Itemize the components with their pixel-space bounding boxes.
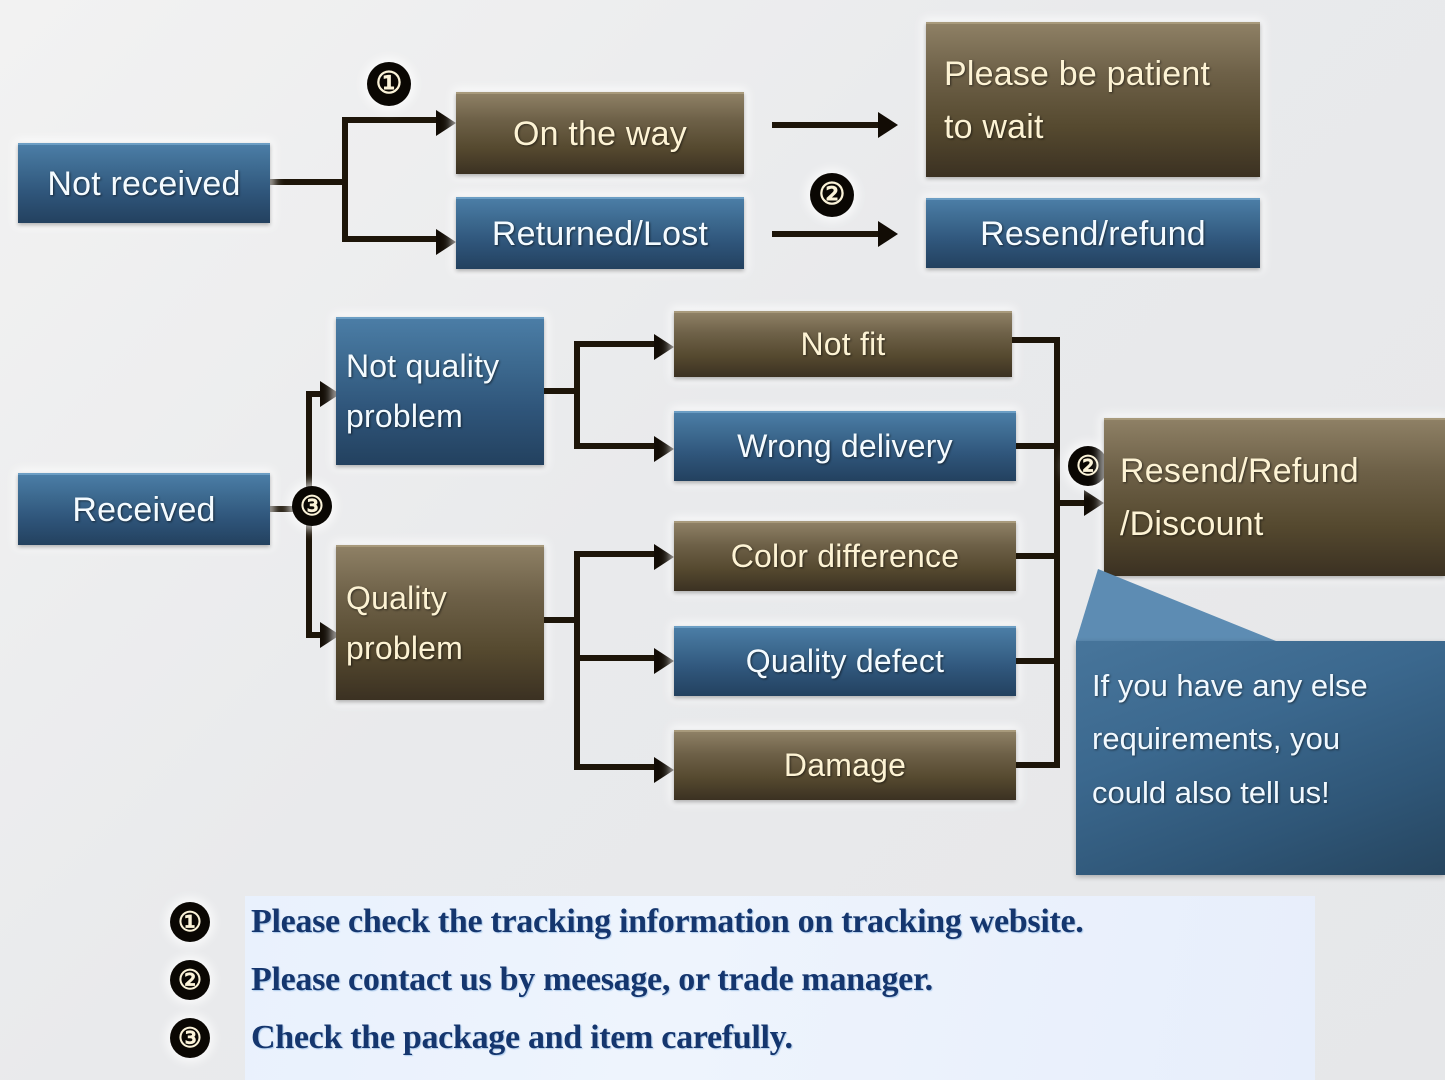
node-not-quality-problem-line1: Not quality <box>346 342 534 392</box>
arrowhead-not-fit <box>654 334 674 360</box>
connector-q-to-damage <box>574 764 660 770</box>
connector-q-to-color-difference <box>574 551 660 557</box>
node-quality-problem[interactable]: Quality problem <box>336 545 544 700</box>
arrowhead-please-be-patient <box>878 112 898 138</box>
arrowhead-on-the-way <box>436 110 456 136</box>
step-marker-1-top: ① <box>367 62 411 106</box>
connector-to-on-the-way <box>342 117 442 123</box>
bubble-line-2: requirements, you <box>1092 721 1340 756</box>
node-not-fit[interactable]: Not fit <box>674 311 1012 377</box>
bubble-line-1: If you have any else <box>1092 668 1368 703</box>
speech-bubble-extra-requirements[interactable]: If you have any else requirements, you c… <box>1076 641 1445 875</box>
step-marker-3: ③ <box>292 486 332 526</box>
node-on-the-way-label: On the way <box>470 108 730 161</box>
node-color-difference-label: Color difference <box>688 532 1002 582</box>
legend-text-1: Please check the tracking information on… <box>251 903 1084 941</box>
node-please-be-patient-line1: Please be patient <box>944 48 1242 101</box>
node-received[interactable]: Received <box>18 473 270 545</box>
legend-text-2: Please contact us by meesage, or trade m… <box>251 961 933 999</box>
connector-bus-not-fit <box>1012 337 1060 343</box>
legend-marker-3: ③ <box>170 1018 210 1058</box>
legend-marker-2: ② <box>170 960 210 1000</box>
node-quality-defect-label: Quality defect <box>688 637 1002 687</box>
arrowhead-damage <box>654 757 674 783</box>
node-resend-refund[interactable]: Resend/refund <box>926 198 1260 268</box>
node-resend-refund-discount[interactable]: Resend/Refund /Discount <box>1104 418 1445 576</box>
node-damage[interactable]: Damage <box>674 730 1016 800</box>
arrowhead-quality-defect <box>654 648 674 674</box>
bubble-line-3: could also tell us! <box>1092 775 1330 810</box>
node-returned-lost-label: Returned/Lost <box>470 208 730 261</box>
node-wrong-delivery[interactable]: Wrong delivery <box>674 411 1016 481</box>
connector-not-received-trunk <box>270 179 348 185</box>
connector-bus-vertical <box>1054 337 1060 768</box>
speech-bubble-tail-icon <box>1076 569 1445 649</box>
node-not-quality-problem[interactable]: Not quality problem <box>336 317 544 465</box>
arrowhead-resend-refund <box>878 221 898 247</box>
arrowhead-returned-lost <box>436 229 456 255</box>
node-resend-refund-label: Resend/refund <box>940 208 1246 261</box>
node-resend-refund-discount-line2: /Discount <box>1120 498 1429 551</box>
node-received-label: Received <box>32 484 256 537</box>
connector-q-to-quality-defect <box>574 655 660 661</box>
node-not-received[interactable]: Not received <box>18 143 270 223</box>
arrowhead-color-difference <box>654 544 674 570</box>
node-damage-label: Damage <box>688 741 1002 791</box>
node-quality-problem-line1: Quality <box>346 574 534 624</box>
connector-to-resend-refund <box>772 231 884 237</box>
node-not-fit-label: Not fit <box>688 320 998 370</box>
node-quality-problem-line2: problem <box>346 624 534 674</box>
node-quality-defect[interactable]: Quality defect <box>674 626 1016 696</box>
connector-nq-to-not-fit <box>574 341 660 347</box>
connector-nq-split <box>574 341 580 449</box>
step-marker-2-right: ② <box>1068 446 1108 486</box>
node-on-the-way[interactable]: On the way <box>456 92 744 174</box>
node-not-received-label: Not received <box>32 158 256 211</box>
node-color-difference[interactable]: Color difference <box>674 521 1016 591</box>
node-please-be-patient[interactable]: Please be patient to wait <box>926 22 1260 177</box>
legend-text-3: Check the package and item carefully. <box>251 1019 793 1057</box>
arrowhead-resend-discount <box>1084 490 1104 516</box>
node-resend-refund-discount-line1: Resend/Refund <box>1120 445 1429 498</box>
node-not-quality-problem-line2: problem <box>346 392 534 442</box>
node-please-be-patient-line2: to wait <box>944 101 1242 154</box>
legend-marker-1: ① <box>170 902 210 942</box>
connector-not-received-split <box>342 117 348 242</box>
arrowhead-wrong-delivery <box>654 436 674 462</box>
connector-to-please-be-patient <box>772 122 884 128</box>
connector-nq-to-wrong-delivery <box>574 443 660 449</box>
node-wrong-delivery-label: Wrong delivery <box>688 422 1002 472</box>
flowchart-canvas: Not received ① On the way Returned/Lost … <box>0 0 1445 1080</box>
step-marker-2-top: ② <box>810 173 854 217</box>
connector-to-returned-lost <box>342 236 442 242</box>
node-returned-lost[interactable]: Returned/Lost <box>456 197 744 269</box>
